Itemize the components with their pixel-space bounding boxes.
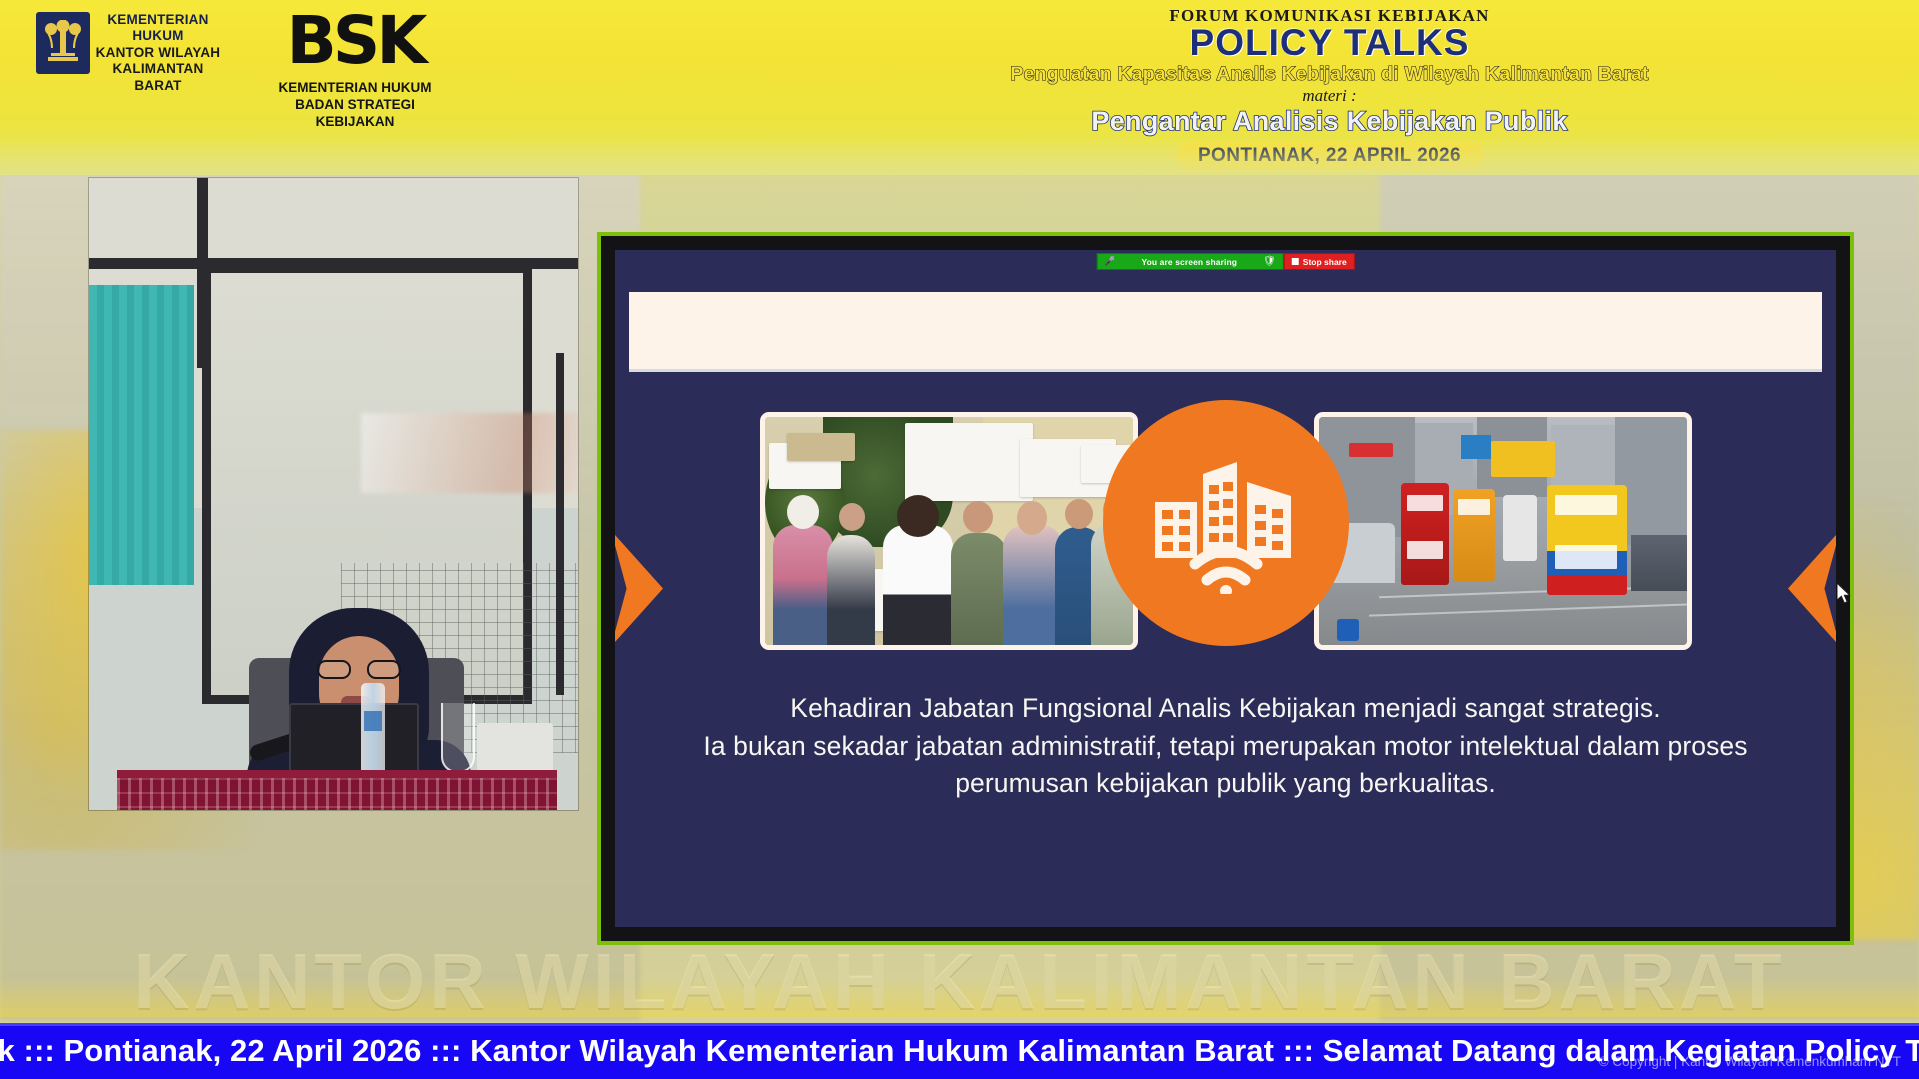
copyright-text: © Copyright | Kantor Wilayah Kemenkumham… [1599,1054,1901,1069]
event-title-block: FORUM KOMUNIKASI KEBIJAKAN POLICY TALKS … [760,6,1899,171]
blue-sign-icon [1337,619,1359,641]
stop-share-button[interactable]: Stop share [1284,253,1355,270]
event-topic: Pengantar Analisis Kebijakan Publik [760,107,1899,137]
video-door-mullion [556,353,564,695]
sharing-status-text: You are screen sharing [1141,257,1237,267]
protest-sign [905,423,1033,501]
screen-share-frame: 🎤 You are screen sharing 🛡 Stop share [597,232,1854,945]
protest-person-head [963,501,993,533]
event-date-badge: PONTIANAK, 22 APRIL 2026 [1176,142,1483,171]
white-bus [1503,495,1537,561]
city-billboard-red [1349,443,1393,457]
protest-person-head [839,503,865,531]
tram-window [1458,499,1490,515]
protest-person [951,533,1007,645]
slide-title-box [629,292,1822,372]
slide-body-line-3: perumusan kebijakan publik yang berkuali… [655,765,1796,803]
stop-square-icon [1292,258,1299,265]
tram-window [1407,541,1443,559]
screen-share-toolbar[interactable]: 🎤 You are screen sharing 🛡 Stop share [1096,253,1354,270]
slide-body-line-2: Ia bukan sekadar jabatan administratif, … [655,728,1796,766]
sharing-status-pill: 🎤 You are screen sharing 🛡 [1096,253,1284,270]
video-laptop [289,703,419,775]
protest-person [1003,525,1063,645]
bus-window [1555,545,1617,569]
video-paper-stack [477,723,553,775]
mouse-cursor-icon [1837,583,1853,605]
protest-person [827,535,875,645]
video-table-skirt [117,778,557,810]
protest-crowd-photo [760,412,1138,650]
city-billboard-yellow [1491,441,1555,477]
materi-label: materi : [760,86,1899,106]
event-title: POLICY TALKS [760,24,1899,63]
bus-window [1555,495,1617,515]
city-street-photo [1314,412,1692,650]
background-watermark: KANTOR WILAYAH KALIMANTAN BARAT [0,936,1919,1027]
bsk-line-1: KEMENTERIAN HUKUM [240,80,470,97]
event-header-banner: KEMENTERIAN HUKUM KANTOR WILAYAH KALIMAN… [0,0,1919,175]
bsk-wordmark-text: BSK [287,8,424,74]
event-subtitle: Penguatan Kapasitas Analis Kebijakan di … [760,64,1899,85]
smart-city-icon-circle [1103,400,1349,646]
protest-person-head [1017,501,1047,535]
logo-line-1: KEMENTERIAN HUKUM [90,12,226,45]
protest-person-head [787,495,819,529]
screen: KANTOR WILAYAH KALIMANTAN BARAT KEMENTER [0,0,1919,1079]
slide-body-line-1: Kehadiran Jabatan Fungsional Analis Kebi… [655,690,1796,728]
kemenkum-emblem-icon [36,12,90,74]
tram-window [1407,495,1443,511]
video-water-bottle [361,683,385,778]
city-billboard-blue [1461,435,1491,459]
shield-check-icon[interactable]: 🛡 [1263,256,1276,267]
bsk-line-3: KEBIJAKAN [240,114,470,131]
logo-caption: KEMENTERIAN HUKUM KANTOR WILAYAH KALIMAN… [90,12,226,94]
protest-person [773,525,833,645]
protest-sign [787,433,855,461]
protest-person-head [897,495,939,537]
ticker-top-line [0,1023,1919,1026]
presenter-glasses-icon [317,660,401,679]
speaker-video-feed[interactable] [89,178,578,810]
slide-body-text: Kehadiran Jabatan Fungsional Analis Kebi… [655,690,1796,803]
logo-line-3: KALIMANTAN BARAT [90,61,226,94]
presentation-slide[interactable]: 🎤 You are screen sharing 🛡 Stop share [615,250,1836,927]
protest-person-head [1065,499,1093,529]
video-drinking-glass [441,703,475,773]
video-curtain [89,285,194,585]
bsk-wordmark-icon: BSK [240,6,470,76]
video-glass-reflection [361,413,578,493]
stop-share-label: Stop share [1303,257,1347,267]
bsk-caption: KEMENTERIAN HUKUM BADAN STRATEGI KEBIJAK… [240,80,470,131]
banyan-tree-emblem-icon [41,20,85,66]
logo-line-2: KANTOR WILAYAH [90,45,226,61]
microphone-icon[interactable]: 🎤 [1104,256,1115,267]
smart-city-buildings-wifi-icon [1151,452,1301,594]
logo-bsk: BSK KEMENTERIAN HUKUM BADAN STRATEGI KEB… [240,6,470,131]
video-horizontal-beam [89,258,578,269]
bsk-line-2: BADAN STRATEGI [240,97,470,114]
pedestrian-crowd [1631,535,1692,591]
news-ticker-bar: ublik ::: Pontianak, 22 April 2026 ::: K… [0,1023,1919,1079]
protest-person [883,525,953,645]
screen-share-bezel: 🎤 You are screen sharing 🛡 Stop share [601,236,1850,941]
logo-kanwil-kalbar: KEMENTERIAN HUKUM KANTOR WILAYAH KALIMAN… [36,12,226,94]
video-vertical-beam [197,178,208,368]
